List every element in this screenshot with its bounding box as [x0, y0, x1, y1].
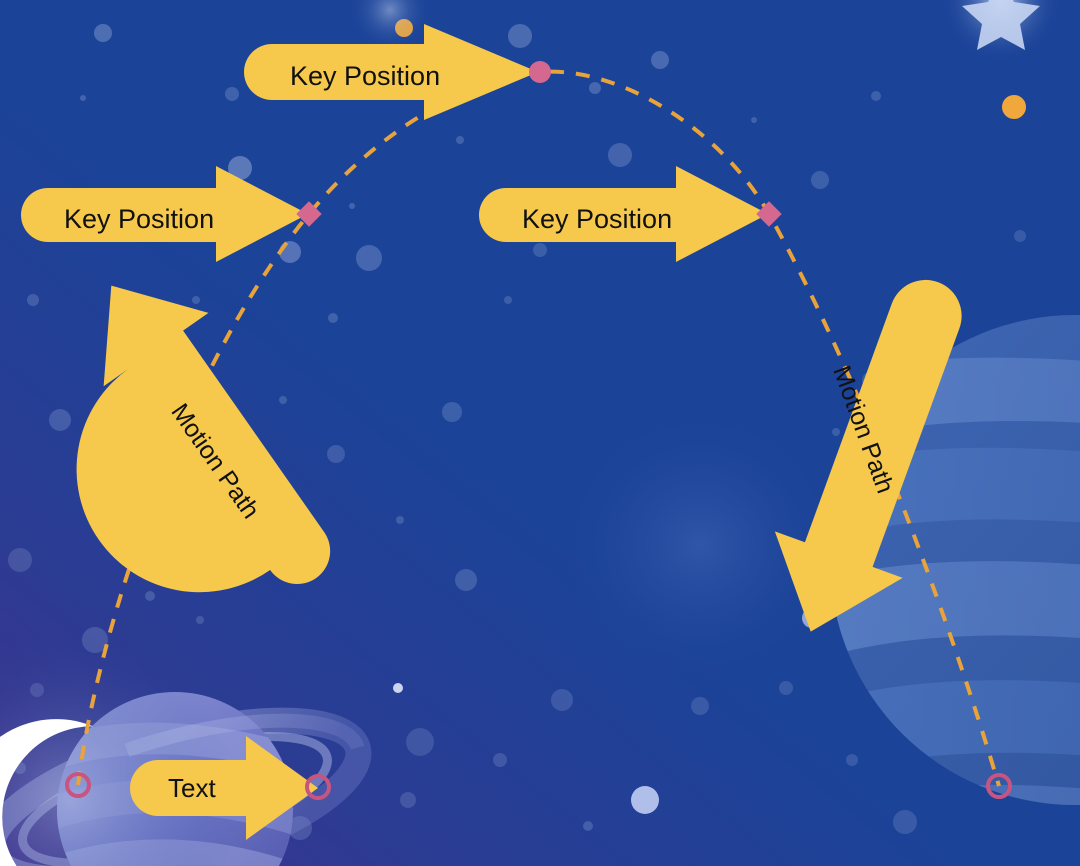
key-position-top-label: Key Position [290, 61, 440, 91]
space-animation-canvas: Motion Path Motion Path Key Position Key… [0, 0, 1080, 866]
text-callout-label: Text [168, 773, 216, 803]
scene-svg: Motion Path Motion Path Key Position Key… [0, 0, 1080, 866]
key-position-left-label: Key Position [64, 204, 214, 234]
orange-dot-right [1002, 95, 1026, 119]
key-position-right-label: Key Position [522, 204, 672, 234]
key-marker-dot-top[interactable] [529, 61, 551, 83]
